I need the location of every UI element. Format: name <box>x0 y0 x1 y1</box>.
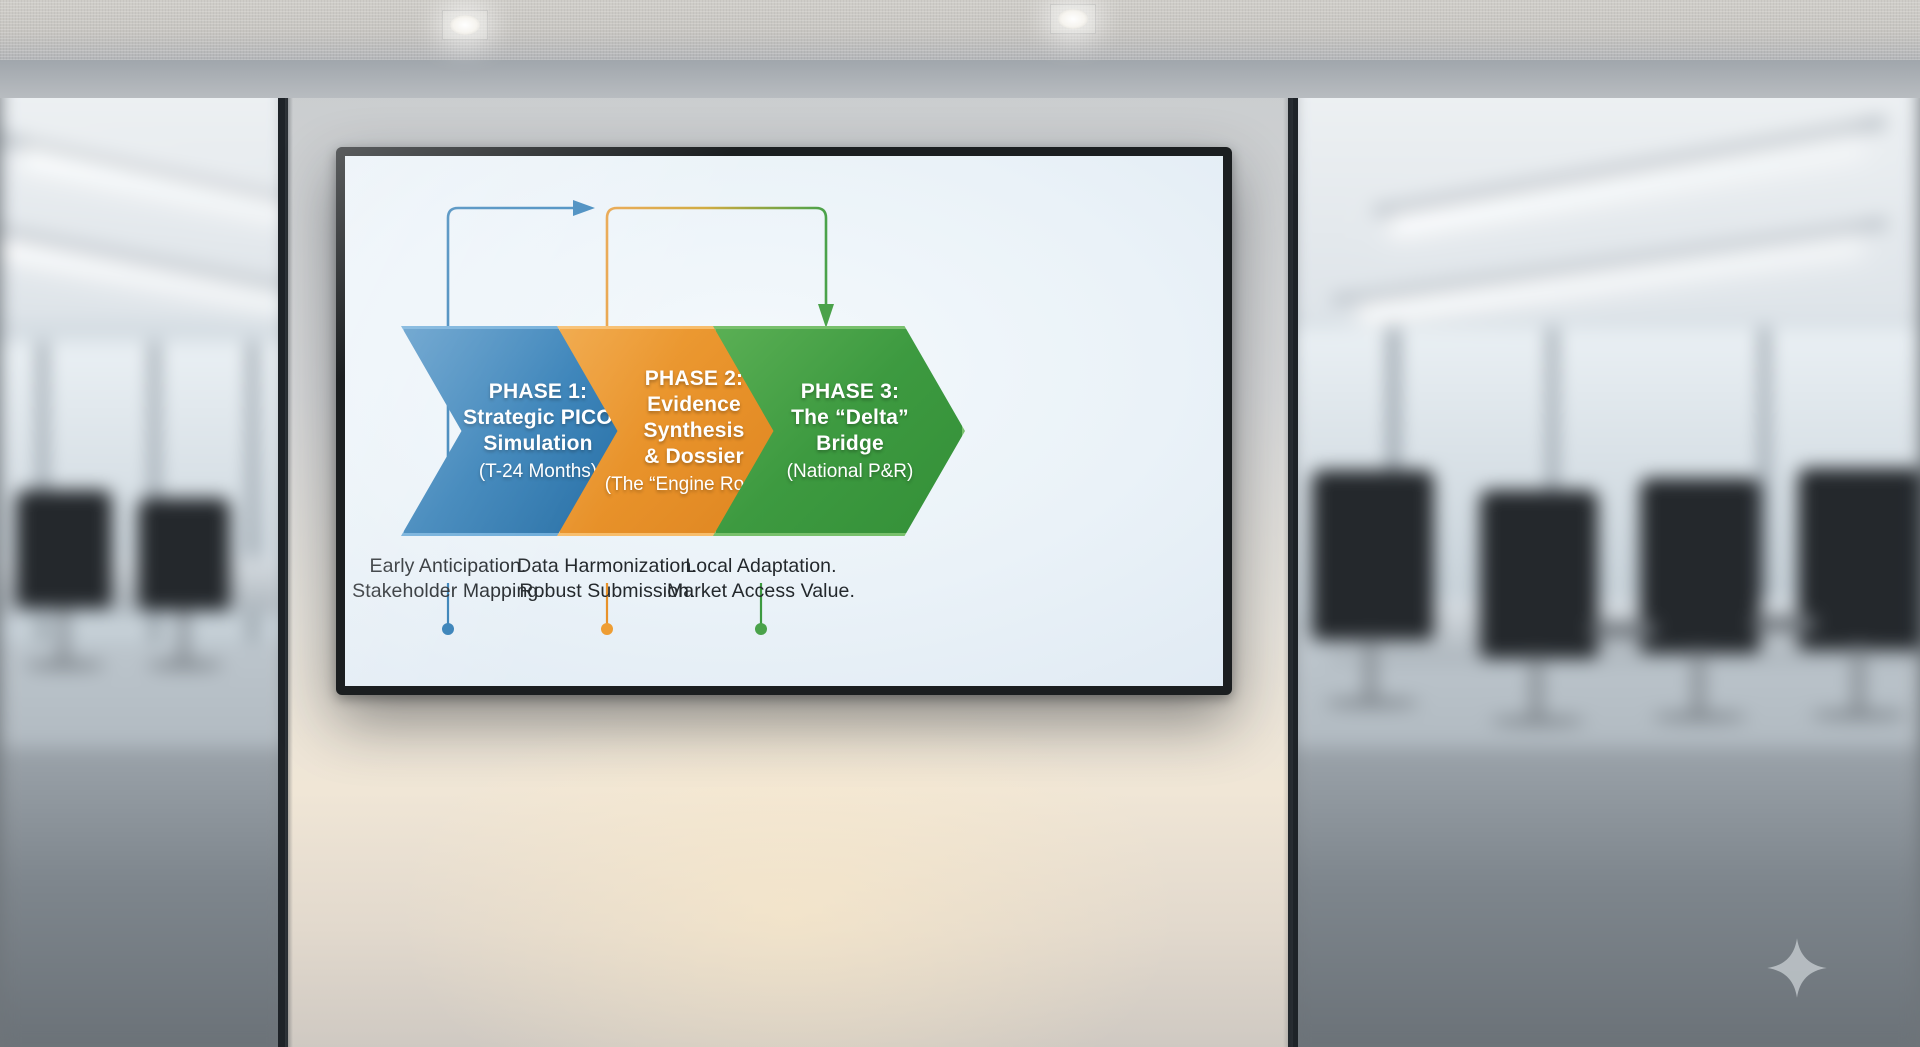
glass-partition-left <box>0 60 288 1047</box>
phase-3-subtitle: (National P&R) <box>787 459 914 484</box>
sparkle-icon <box>1766 937 1828 999</box>
wall-mounted-display[interactable]: PHASE 1: Strategic PICO Simulation (T-24… <box>336 147 1232 695</box>
connector-1-to-2-arrowhead <box>573 200 595 216</box>
phase-3-heading: PHASE 3: <box>787 379 914 405</box>
phase-3-caption-dot <box>755 623 767 635</box>
phase-3-line3: Bridge <box>787 431 914 457</box>
phase-2-caption-dot <box>601 623 613 635</box>
process-flow-diagram: PHASE 1: Strategic PICO Simulation (T-24… <box>345 156 1223 686</box>
glass-partition-right <box>1290 60 1920 1047</box>
phase-3-line2: The “Delta” <box>787 405 914 431</box>
phase-3-caption: Local Adaptation. Market Access Value. <box>639 554 883 604</box>
slide-canvas: PHASE 1: Strategic PICO Simulation (T-24… <box>345 156 1223 686</box>
connector-2-to-3-arrowhead <box>818 304 834 328</box>
ceiling-downlight-1 <box>450 15 480 35</box>
phase-1-caption-dot <box>442 623 454 635</box>
ceiling <box>0 0 1920 60</box>
ceiling-downlight-2 <box>1058 9 1088 29</box>
wall-edge-right <box>1283 58 1293 1047</box>
phase-1-line2: Strategic PICO <box>463 405 613 431</box>
upper-wall-band <box>0 58 1920 98</box>
phase-1-line3: Simulation <box>463 431 613 457</box>
wall-edge-left <box>285 58 293 1047</box>
phase-2-line3: Synthesis <box>605 418 783 444</box>
